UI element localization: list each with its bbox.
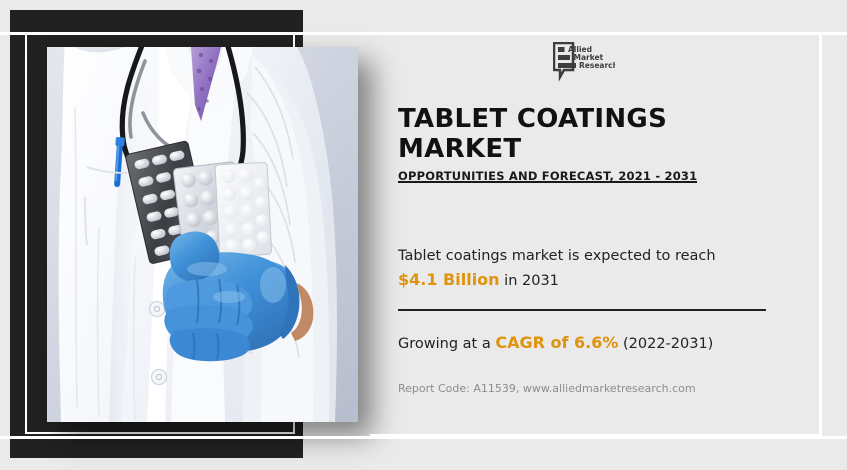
page-title: TABLET COATINGS MARKET — [398, 104, 770, 164]
report-subtitle: OPPORTUNITIES AND FORECAST, 2021 - 2031 — [398, 176, 697, 183]
market-size-suffix: in 2031 — [504, 273, 559, 289]
poster-canvas: Allied Market Research TABLET COATINGS M… — [0, 0, 847, 470]
cagr-statement: Growing at a CAGR of 6.6% (2022-2031) — [398, 333, 770, 352]
top-divider-line — [0, 32, 847, 35]
market-size-value: $4.1 Billion — [398, 270, 500, 289]
hero-photo — [47, 47, 358, 422]
bottom-divider-line — [0, 436, 847, 439]
svg-text:Research: Research — [579, 61, 615, 70]
market-size-statement: Tablet coatings market is expected to re… — [398, 245, 770, 292]
content-column: Allied Market Research TABLET COATINGS M… — [398, 40, 770, 430]
report-footer: Report Code: A11539, www.alliedmarketres… — [398, 382, 770, 395]
cagr-prefix: Growing at a — [398, 336, 491, 352]
brand-logo: Allied Market Research — [398, 42, 770, 82]
cagr-value: CAGR of 6.6% — [495, 333, 618, 352]
section-divider — [398, 309, 766, 311]
cagr-period: (2022-2031) — [623, 336, 713, 352]
market-size-prefix: Tablet coatings market is expected to re… — [398, 248, 716, 264]
